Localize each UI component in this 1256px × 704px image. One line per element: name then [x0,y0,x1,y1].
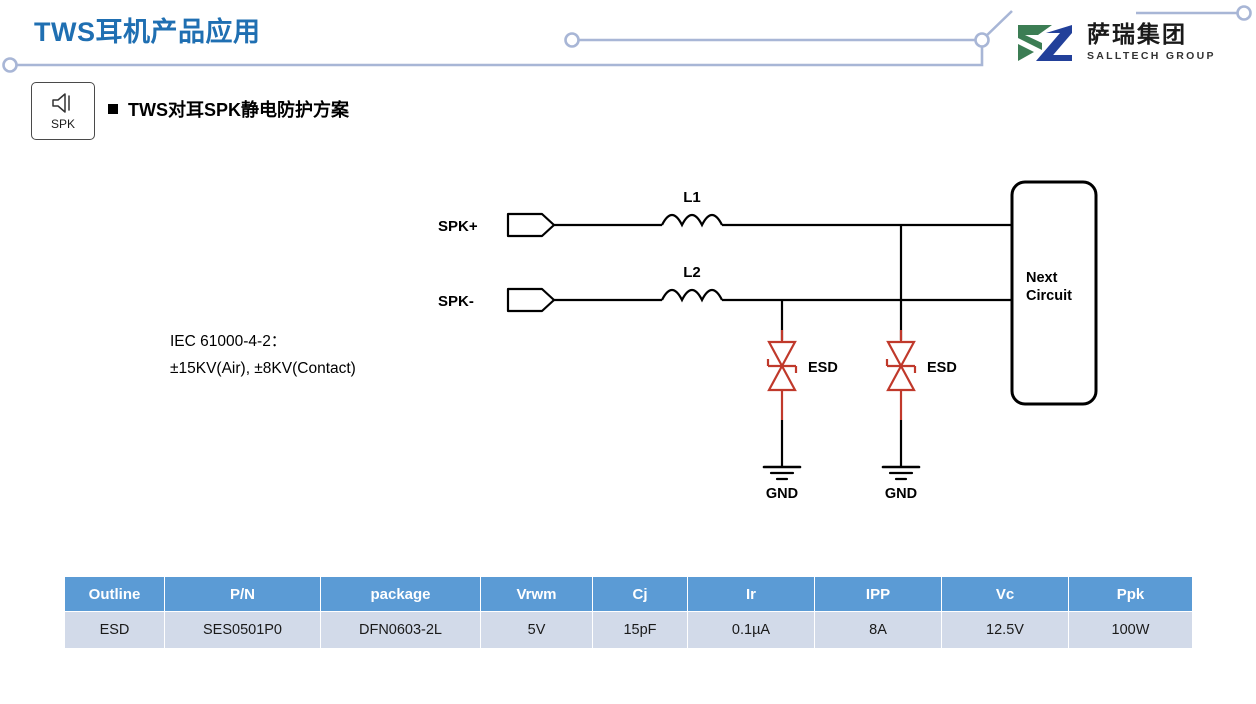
esd-diode-right [887,330,915,420]
table-header-package: package [321,577,481,612]
esd-right-label: ESD [927,360,957,376]
cell-pn: SES0501P0 [165,612,321,649]
brand-name-cn: 萨瑞集团 [1087,24,1216,47]
esd-protection-schematic: SPK+ SPK- L1 L2 ESD GND [420,170,1140,520]
inductor-l2-coil [662,290,722,300]
section-heading: TWS对耳SPK静电防护方案 [108,96,349,122]
salltech-logo-mark [1012,22,1078,64]
table-header-ir: Ir [688,577,815,612]
esd-left-triangle-lower [769,366,795,390]
page-title: TWS耳机产品应用 [34,10,261,49]
port-label-spk-negative: SPK- [438,293,474,310]
cell-ipp: 8A [815,612,942,649]
iec-note-line1: IEC 61000-4-2： [170,328,356,355]
table-row: ESD SES0501P0 DFN0603-2L 5V 15pF 0.1µA 8… [65,612,1193,649]
ground-symbol-left [764,467,800,479]
deco-node-elbow [976,34,989,47]
ground-left-label: GND [766,486,798,502]
table-header-cj: Cj [593,577,688,612]
table-header-row: Outline P/N package Vrwm Cj Ir IPP Vc Pp… [65,577,1193,612]
iec-standard-note: IEC 61000-4-2： ±15KV(Air), ±8KV(Contact) [170,328,356,382]
cell-cj: 15pF [593,612,688,649]
bullet-square-icon [108,104,118,114]
next-circuit-label-line1: Next [1026,270,1058,286]
iec-note-line2: ±15KV(Air), ±8KV(Contact) [170,355,356,382]
brand-logo: 萨瑞集团 SALLTECH GROUP [1012,22,1216,64]
esd-right-triangle-upper [888,342,914,366]
ground-right-label: GND [885,486,917,502]
deco-node-mid [566,34,579,47]
inductor-l2-label: L2 [683,264,701,281]
logo-mark-green-lower [1018,44,1034,61]
table-header-pn: P/N [165,577,321,612]
port-connector-negative [508,289,554,311]
deco-node-left [4,59,17,72]
spk-badge: SPK [31,82,95,140]
brand-name-en: SALLTECH GROUP [1087,51,1216,62]
esd-left-label: ESD [808,360,838,376]
port-label-spk-positive: SPK+ [438,218,478,235]
deco-node-right [1238,7,1251,20]
parameter-table: Outline P/N package Vrwm Cj Ir IPP Vc Pp… [64,576,1193,649]
speaker-icon-body [53,94,65,112]
cell-outline: ESD [65,612,165,649]
table-header-vrwm: Vrwm [481,577,593,612]
spk-badge-label: SPK [51,117,75,131]
cell-vrwm: 5V [481,612,593,649]
ground-symbol-right [883,467,919,479]
logo-mark-green-s [1018,25,1052,50]
table-header-ppk: Ppk [1069,577,1193,612]
esd-right-triangle-lower [888,366,914,390]
cell-ir: 0.1µA [688,612,815,649]
logo-mark-blue-bar [1048,55,1072,61]
cell-package: DFN0603-2L [321,612,481,649]
port-connector-positive [508,214,554,236]
section-heading-text: TWS对耳SPK静电防护方案 [128,96,349,122]
inductor-l1-label: L1 [683,189,701,206]
speaker-icon [50,92,76,114]
inductor-l1-coil [662,215,722,225]
esd-diode-left [768,330,796,420]
esd-left-triangle-upper [769,342,795,366]
table-header-vc: Vc [942,577,1069,612]
table-header-ipp: IPP [815,577,942,612]
cell-vc: 12.5V [942,612,1069,649]
brand-logo-text: 萨瑞集团 SALLTECH GROUP [1087,24,1216,62]
next-circuit-label-line2: Circuit [1026,288,1072,304]
table-header-outline: Outline [65,577,165,612]
cell-ppk: 100W [1069,612,1193,649]
